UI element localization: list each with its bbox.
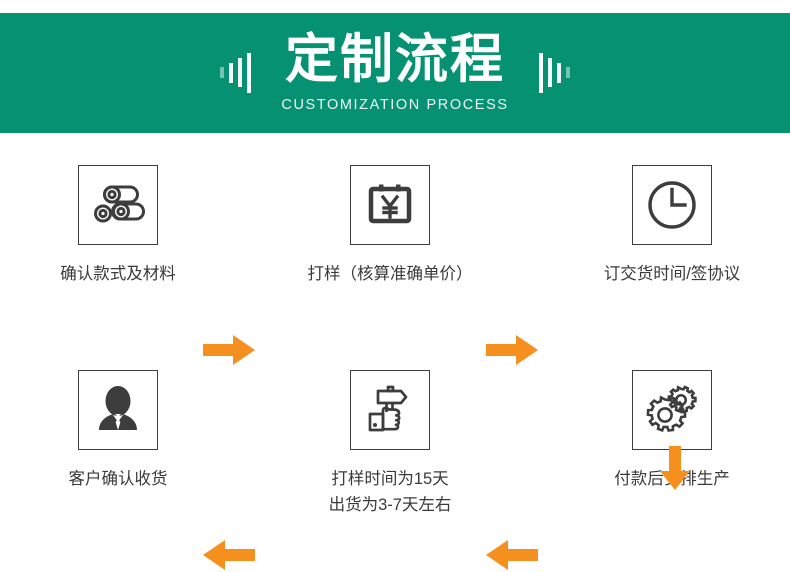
arrow-step3-to-step4-icon — [658, 446, 692, 492]
clipboard-yen-icon — [350, 165, 430, 245]
page-subtitle: CUSTOMIZATION PROCESS — [281, 97, 508, 113]
process-step-3: 订交货时间/签协议 — [554, 165, 790, 288]
page-title: 定制流程 — [281, 33, 508, 87]
process-step-3-caption: 订交货时间/签协议 — [554, 262, 790, 288]
process-step-2-caption: 打样（核算准确单价） — [272, 262, 508, 288]
process-step-6-caption: 客户确认收货 — [0, 467, 236, 493]
process-step-6: 客户确认收货 — [0, 370, 236, 493]
hand-hammer-icon — [350, 370, 430, 450]
process-step-1-caption: 确认款式及材料 — [0, 262, 236, 288]
process-step-1: 确认款式及材料 — [0, 165, 236, 288]
equalizer-bars-right-icon — [539, 53, 570, 93]
process-flow-diagram: 确认款式及材料 打样（核算准确单价） — [0, 133, 790, 554]
equalizer-bars-left-icon — [220, 53, 251, 93]
process-step-5: 打样时间为15天 出货为3-7天左右 — [272, 370, 508, 518]
arrow-step5-to-step6-icon — [203, 538, 257, 572]
arrow-step4-to-step5-icon — [486, 538, 540, 572]
gears-icon — [632, 370, 712, 450]
process-step-2: 打样（核算准确单价） — [272, 165, 508, 288]
page-header-banner: 定制流程 CUSTOMIZATION PROCESS — [0, 13, 790, 133]
banner-content: 定制流程 CUSTOMIZATION PROCESS — [220, 33, 569, 112]
businessman-icon — [78, 370, 158, 450]
fabric-rolls-icon — [78, 165, 158, 245]
banner-title-block: 定制流程 CUSTOMIZATION PROCESS — [251, 33, 538, 112]
process-step-5-caption: 打样时间为15天 出货为3-7天左右 — [272, 467, 508, 518]
arrow-step2-to-step3-icon — [486, 333, 540, 367]
clock-icon — [632, 165, 712, 245]
arrow-step1-to-step2-icon — [203, 333, 257, 367]
